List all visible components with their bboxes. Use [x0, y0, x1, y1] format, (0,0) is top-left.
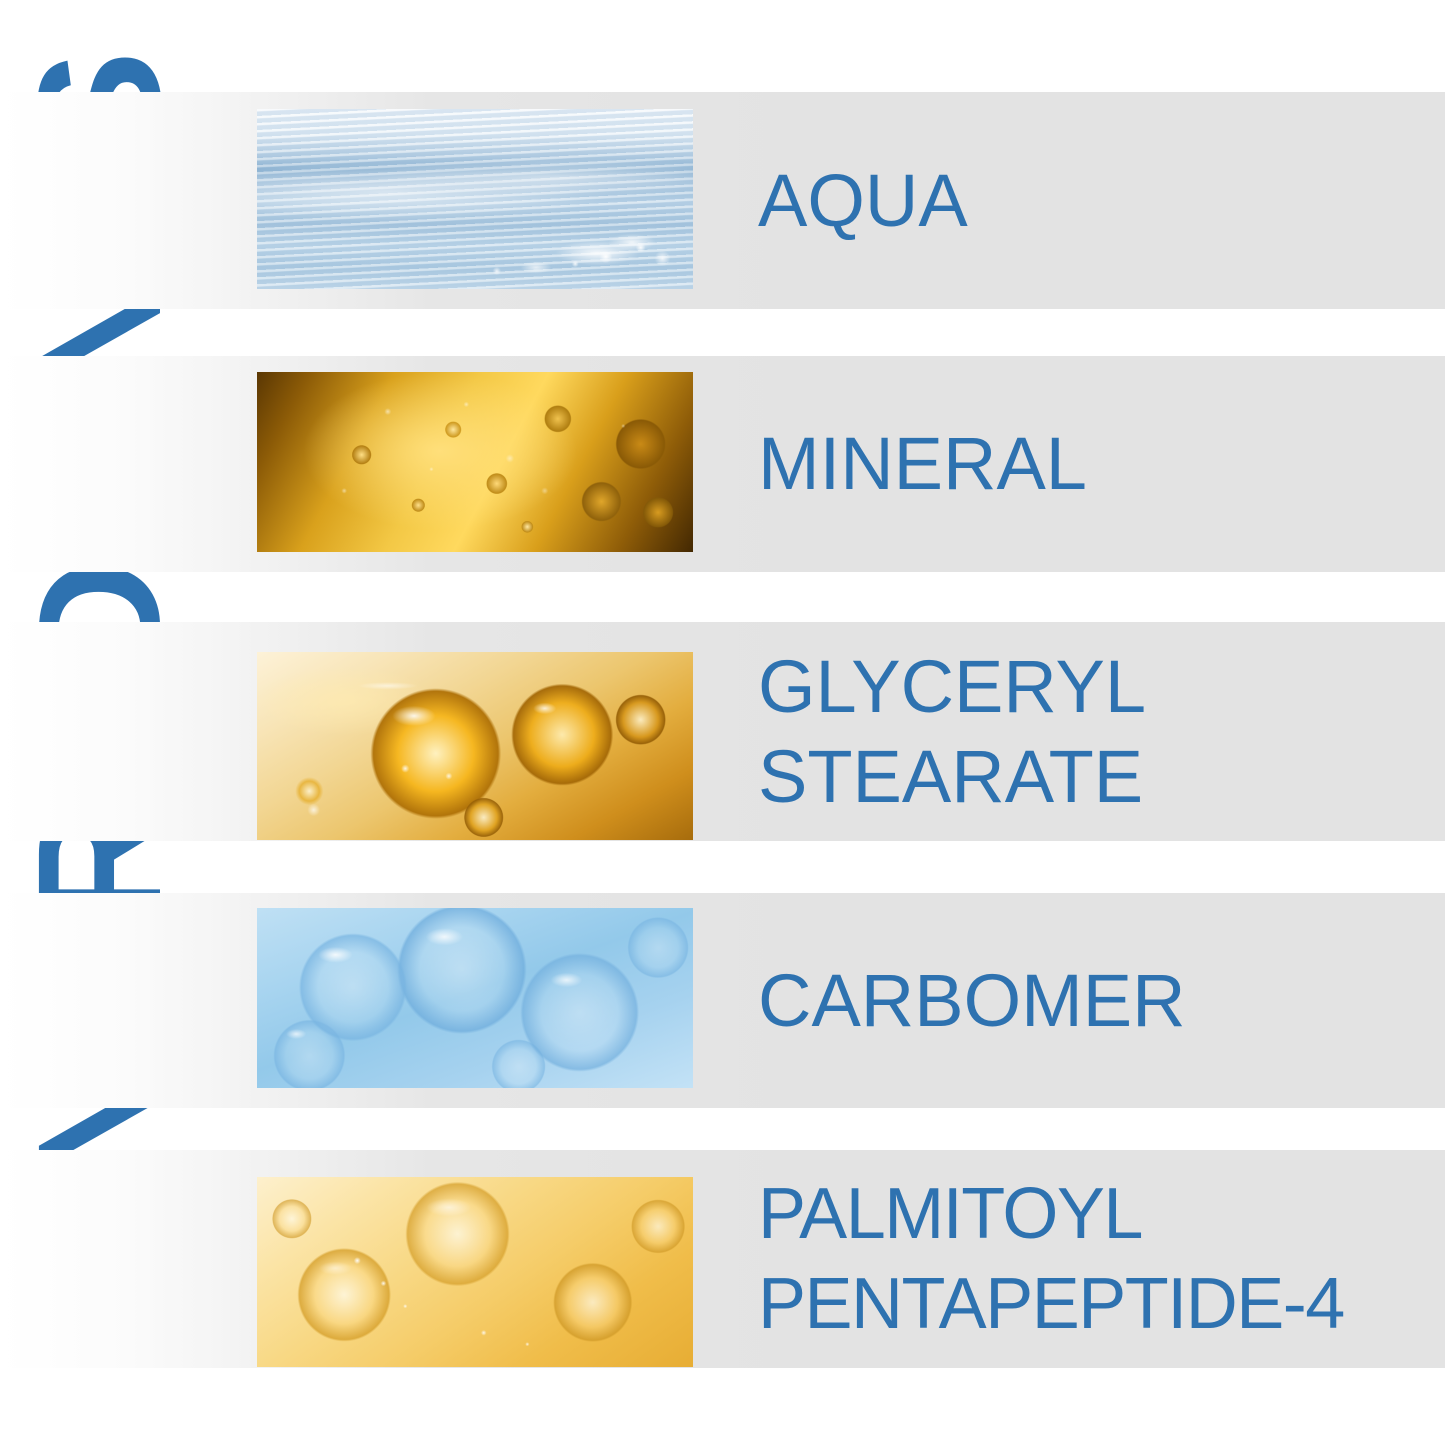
thumbnail-texture [257, 1177, 693, 1367]
ingredient-name: PALMITOYL PENTAPEPTIDE-4 [758, 1169, 1344, 1349]
ingredient-row[interactable]: AQUA [0, 92, 1445, 309]
ingredients-poster: INGREDIENTS AQUAMINERALGLYCERYL STEARATE… [0, 0, 1445, 1445]
amber-spheres-thumbnail [257, 652, 693, 840]
ingredient-row[interactable]: MINERAL [0, 356, 1445, 572]
ingredient-row[interactable]: CARBOMER [0, 893, 1445, 1108]
ingredient-row[interactable]: PALMITOYL PENTAPEPTIDE-4 [0, 1150, 1445, 1368]
honey-bubbles-thumbnail [257, 1177, 693, 1367]
ingredient-name: MINERAL [758, 419, 1087, 509]
thumbnail-texture [257, 372, 693, 552]
thumbnail-texture [257, 652, 693, 840]
golden-oil-bubbles-thumbnail [257, 372, 693, 552]
blue-bubbles-thumbnail [257, 908, 693, 1088]
water-surface-thumbnail [257, 109, 693, 289]
ingredient-name: CARBOMER [758, 956, 1186, 1046]
thumbnail-texture [257, 908, 693, 1088]
thumbnail-texture [257, 109, 693, 289]
ingredient-row[interactable]: GLYCERYL STEARATE [0, 622, 1445, 841]
ingredient-name: GLYCERYL STEARATE [758, 642, 1146, 822]
ingredient-name: AQUA [758, 156, 968, 246]
